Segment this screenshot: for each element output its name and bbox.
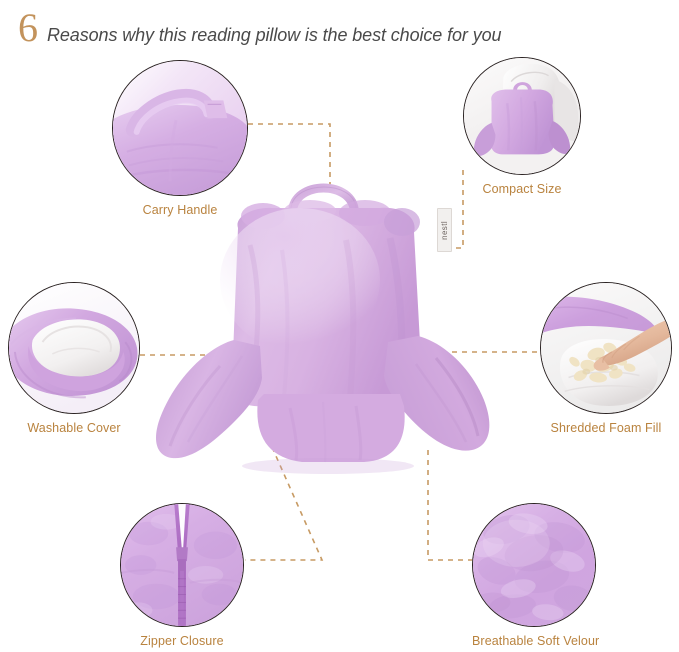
callout-breathable-soft-velour-label: Breathable Soft Velour xyxy=(472,634,599,648)
callout-compact-size-circle[interactable] xyxy=(463,57,581,175)
page-title: 6 Reasons why this reading pillow is the… xyxy=(18,8,501,48)
infographic-canvas: 6 Reasons why this reading pillow is the… xyxy=(0,0,679,652)
compact-size-photo xyxy=(464,58,580,174)
callout-shredded-foam-fill[interactable]: Shredded Foam Fill xyxy=(540,282,672,435)
callout-carry-handle-circle[interactable] xyxy=(112,60,248,196)
breathable-soft-velour-photo xyxy=(473,504,595,626)
callout-breathable-soft-velour-circle[interactable] xyxy=(472,503,596,627)
callout-shredded-foam-fill-circle[interactable] xyxy=(540,282,672,414)
callout-washable-cover-circle[interactable] xyxy=(8,282,140,414)
brand-tag-text: nestl xyxy=(440,221,449,240)
callout-zipper-closure[interactable]: Zipper Closure xyxy=(120,503,244,648)
callout-breathable-soft-velour[interactable]: Breathable Soft Velour xyxy=(472,503,599,648)
callout-zipper-closure-label: Zipper Closure xyxy=(120,634,244,648)
shredded-foam-fill-photo xyxy=(541,283,671,413)
brand-tag: nestl xyxy=(437,208,452,252)
callout-washable-cover[interactable]: Washable Cover xyxy=(8,282,140,435)
callout-carry-handle-label: Carry Handle xyxy=(112,203,248,217)
callout-compact-size[interactable]: Compact Size xyxy=(463,57,581,196)
callout-washable-cover-label: Washable Cover xyxy=(8,421,140,435)
reason-count: 6 xyxy=(18,8,38,48)
zipper-closure-photo xyxy=(121,504,243,626)
callout-zipper-closure-circle[interactable] xyxy=(120,503,244,627)
callout-carry-handle[interactable]: Carry Handle xyxy=(112,60,248,217)
callout-shredded-foam-fill-label: Shredded Foam Fill xyxy=(540,421,672,435)
callout-compact-size-label: Compact Size xyxy=(463,182,581,196)
page-title-text: Reasons why this reading pillow is the b… xyxy=(47,25,501,46)
washable-cover-photo xyxy=(9,283,139,413)
carry-handle-photo xyxy=(113,61,247,195)
